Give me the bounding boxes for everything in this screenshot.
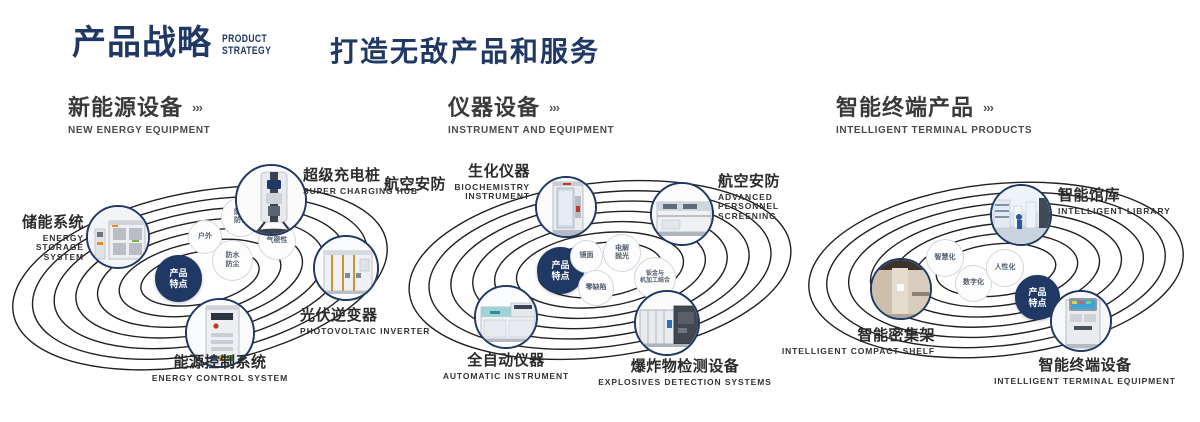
biochemistry-analyzer-icon (537, 178, 595, 236)
page-title-cn: 产品战略 (72, 26, 212, 60)
caption-aviation-security-left: 航空安防 (366, 177, 446, 194)
section-title-cn: 仪器设备 ››› (448, 96, 614, 120)
caption-cn: 储能系统 (0, 215, 84, 232)
caption-intelligent-compact-shelf: 智能密集架 INTELLIGENT COMPACT SHELF (750, 328, 935, 356)
feature-bubble-zero-defect[interactable]: 零缺陷 (578, 270, 614, 306)
caption-en: EXPLOSIVES DETECTION SYSTEMS (590, 378, 780, 388)
core-bubble-line2: 特点 (1028, 298, 1046, 308)
node-automatic-instrument[interactable] (474, 285, 538, 349)
page-title-en: PRODUCT STRATEGY (222, 33, 271, 57)
section-title-cn: 智能终端产品 ››› (836, 96, 1032, 120)
caption-energy-control-system: 能源控制系统 ENERGY CONTROL SYSTEM (110, 355, 330, 383)
pv-inverter-cabinet-icon (315, 237, 377, 299)
core-bubble-line2: 特点 (551, 271, 569, 281)
section-title-en: INTELLIGENT TERMINAL PRODUCTS (836, 125, 1032, 136)
section-title-cn-text: 智能终端产品 (836, 96, 974, 120)
section-title-new-energy: 新能源设备 ››› NEW ENERGY EQUIPMENT (68, 96, 210, 136)
node-advanced-personnel-screening[interactable] (650, 182, 714, 246)
caption-cn: 能源控制系统 (110, 355, 330, 372)
core-bubble-line2: 特点 (169, 279, 187, 289)
node-super-charging-hub[interactable] (235, 164, 307, 236)
smart-library-room-icon (992, 186, 1050, 244)
compact-shelving-icon (872, 260, 930, 318)
node-intelligent-compact-shelf[interactable] (870, 258, 932, 320)
section-title-intelligent-terminal: 智能终端产品 ››› INTELLIGENT TERMINAL PRODUCTS (836, 96, 1032, 136)
node-intelligent-library[interactable] (990, 184, 1052, 246)
section-title-instrument: 仪器设备 ››› INSTRUMENT AND EQUIPMENT (448, 96, 614, 136)
cluster-new-energy: 产品 特点 户外 防腐 防锈 防水 防尘 气密性 (0, 150, 400, 410)
energy-storage-cabinet-icon (88, 207, 148, 267)
core-bubble-line1: 产品 (551, 260, 569, 270)
caption-explosives-detection-system: 爆炸物检测设备 EXPLOSIVES DETECTION SYSTEMS (590, 359, 780, 387)
caption-cn: 智能密集架 (750, 328, 935, 345)
page-title-en-line2: STRATEGY (222, 45, 271, 57)
feature-bubble-electropolishing[interactable]: 电解 抛光 (603, 234, 641, 272)
section-title-cn-text: 仪器设备 (448, 96, 540, 120)
cluster-intelligent-terminal: 产品 特点 智慧化 数字化 人性化 (800, 150, 1200, 410)
page-title: 产品战略 PRODUCT STRATEGY (72, 26, 285, 60)
node-intelligent-terminal-equipment[interactable] (1050, 290, 1112, 352)
explosives-detector-icon (636, 292, 698, 354)
self-service-kiosk-icon (1052, 292, 1110, 350)
caption-cn: 智能终端设备 (990, 358, 1180, 375)
super-charging-pile-icon (237, 166, 305, 234)
caption-en: ENERGY STORAGE SYSTEM (0, 234, 84, 263)
caption-en: INTELLIGENT LIBRARY (1058, 207, 1171, 217)
core-bubble-line1: 产品 (169, 268, 187, 278)
feature-bubble-waterproof[interactable]: 防水 防尘 (212, 240, 253, 281)
chevron-right-icon: ››› (549, 101, 559, 115)
section-title-en: INSTRUMENT AND EQUIPMENT (448, 125, 614, 136)
core-bubble-line1: 产品 (1028, 287, 1046, 297)
section-title-en: NEW ENERGY EQUIPMENT (68, 125, 210, 136)
cluster-instrument: 产品 特点 镜面 电解 抛光 零缺陷 钣金与 机加工结合 (400, 150, 800, 410)
caption-automatic-instrument: 全自动仪器 AUTOMATIC INSTRUMENT (428, 353, 584, 381)
page-subtitle: 打造无敌产品和服务 (330, 30, 600, 70)
caption-en: AUTOMATIC INSTRUMENT (428, 372, 584, 382)
node-explosives-detection-system[interactable] (634, 290, 700, 356)
feature-bubble-mirror-finish[interactable]: 镜面 (570, 240, 603, 273)
caption-intelligent-terminal-equipment: 智能终端设备 INTELLIGENT TERMINAL EQUIPMENT (990, 358, 1180, 386)
node-biochemistry-instrument[interactable] (535, 176, 597, 238)
feature-bubble-humanized[interactable]: 人性化 (986, 249, 1024, 287)
node-photovoltaic-inverter[interactable] (313, 235, 379, 301)
caption-intelligent-library: 智能馆库 INTELLIGENT LIBRARY (1058, 188, 1171, 216)
caption-energy-storage-system: 储能系统 ENERGY STORAGE SYSTEM (0, 215, 84, 262)
core-bubble-product-features[interactable]: 产品 特点 (155, 255, 202, 302)
section-title-cn: 新能源设备 ››› (68, 96, 210, 120)
caption-en: INTELLIGENT COMPACT SHELF (750, 347, 935, 357)
caption-cn: 爆炸物检测设备 (590, 359, 780, 376)
caption-cn: 航空安防 (366, 177, 446, 194)
caption-cn: 智能馆库 (1058, 188, 1171, 205)
chevron-right-icon: ››› (192, 101, 202, 115)
section-title-cn-text: 新能源设备 (68, 96, 183, 120)
caption-cn: 全自动仪器 (428, 353, 584, 370)
chevron-right-icon: ››› (983, 101, 993, 115)
node-energy-storage-system[interactable] (86, 205, 150, 269)
automatic-instrument-icon (476, 287, 536, 347)
caption-en: ENERGY CONTROL SYSTEM (110, 374, 330, 384)
page-title-en-line1: PRODUCT (222, 33, 271, 45)
personnel-screening-scanner-icon (652, 184, 712, 244)
product-strategy-infographic: 产品战略 PRODUCT STRATEGY 打造无敌产品和服务 新能源设备 ››… (0, 0, 1200, 422)
caption-en: INTELLIGENT TERMINAL EQUIPMENT (990, 377, 1180, 387)
